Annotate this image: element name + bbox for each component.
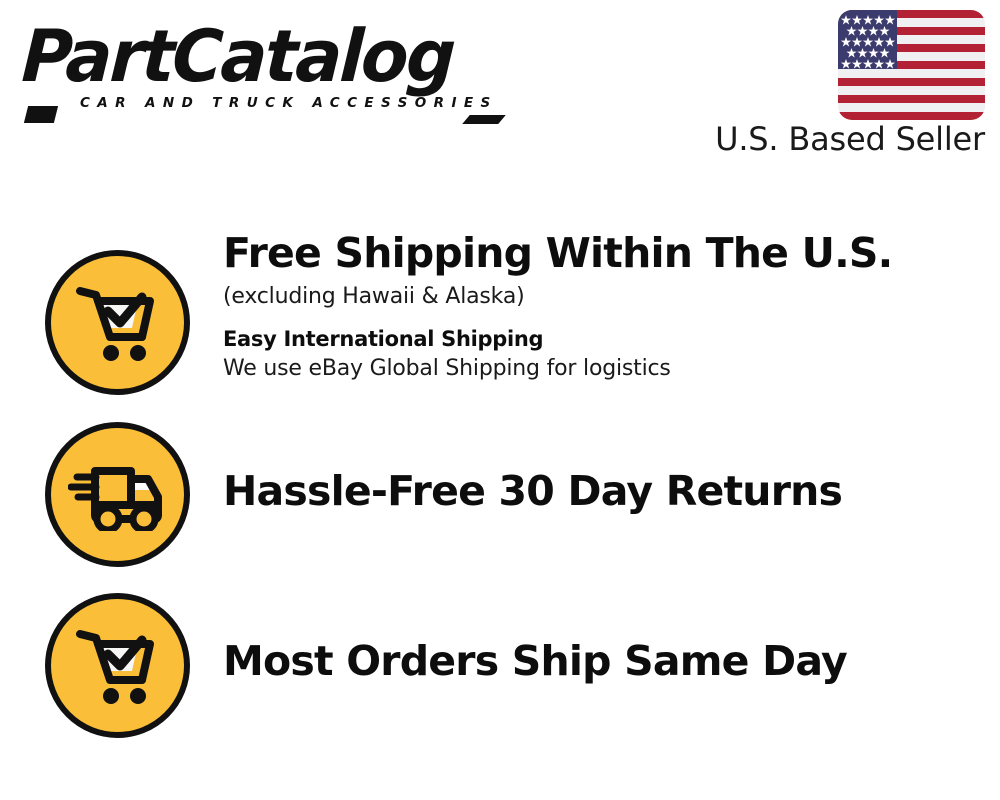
- feature-sub-heading: Easy International Shipping: [223, 325, 983, 353]
- delivery-truck-icon: [45, 422, 190, 567]
- logo-flourish-left: [24, 106, 58, 123]
- feature-heading: Free Shipping Within The U.S.: [223, 230, 983, 276]
- brand-logo: PartCatalog CAR AND TRUCK ACCESSORIES: [24, 18, 494, 118]
- feature-note: (excluding Hawaii & Alaska): [223, 282, 983, 312]
- flag-stars: [838, 10, 898, 69]
- feature-row-returns: Hassle-Free 30 Day Returns: [0, 410, 1000, 582]
- us-flag-icon: [838, 10, 985, 120]
- flag-canton: [838, 10, 897, 69]
- logo-flourish-right: [462, 115, 506, 124]
- feature-text-block: Free Shipping Within The U.S. (excluding…: [223, 230, 983, 384]
- shopping-cart-check-icon: [45, 593, 190, 738]
- feature-heading: Hassle-Free 30 Day Returns: [223, 468, 983, 514]
- feature-row-free-shipping: Free Shipping Within The U.S. (excluding…: [0, 230, 1000, 415]
- feature-sub-note: We use eBay Global Shipping for logistic…: [223, 354, 983, 384]
- feature-heading: Most Orders Ship Same Day: [223, 638, 983, 684]
- promo-banner: PartCatalog CAR AND TRUCK ACCESSORIES: [0, 0, 1000, 800]
- flag-stripe: [838, 112, 985, 120]
- feature-row-same-day-ship: Most Orders Ship Same Day: [0, 582, 1000, 754]
- brand-wordmark: PartCatalog: [20, 18, 475, 94]
- shopping-cart-check-icon: [45, 250, 190, 395]
- feature-text-block: Most Orders Ship Same Day: [223, 638, 983, 684]
- us-based-seller-label: U.S. Based Seller: [715, 120, 985, 158]
- feature-text-block: Hassle-Free 30 Day Returns: [223, 468, 983, 514]
